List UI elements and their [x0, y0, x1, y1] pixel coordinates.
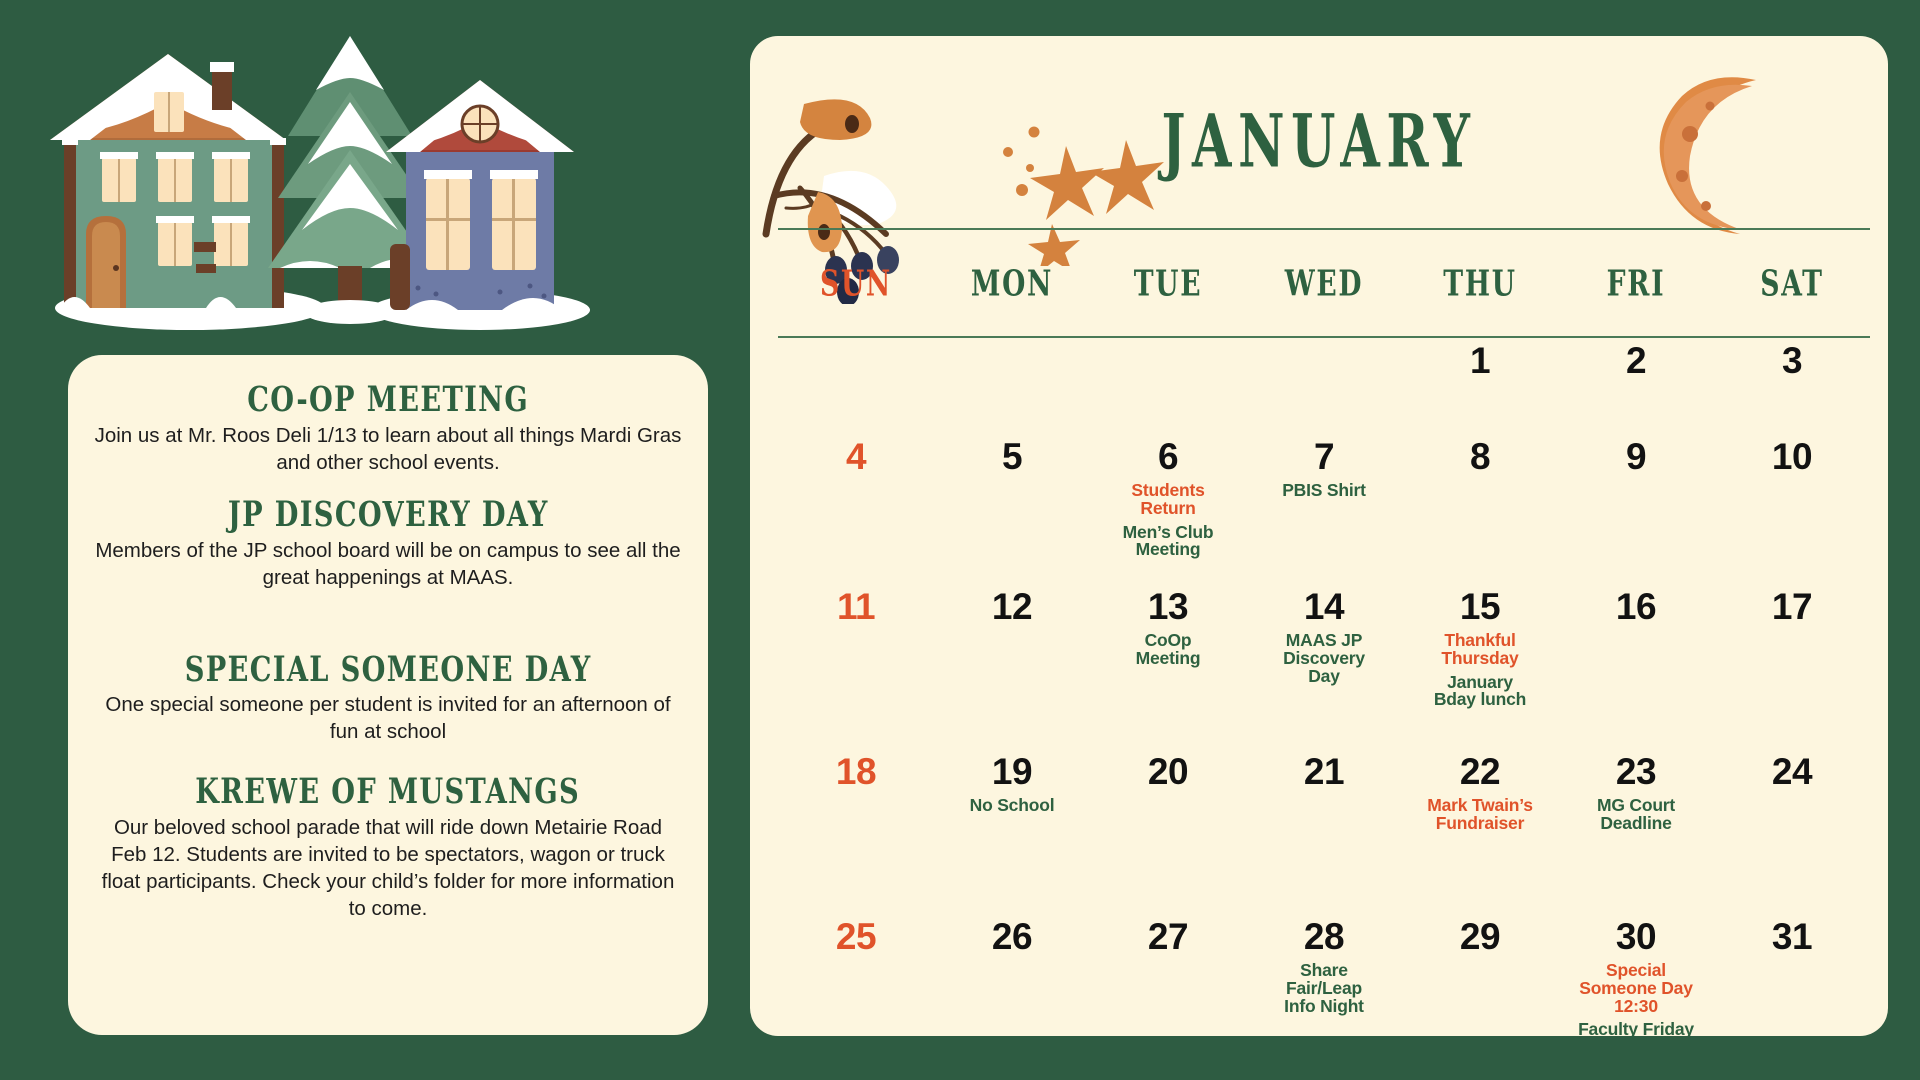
day-cell-6[interactable]: 6Students ReturnMen’s Club Meeting: [1090, 436, 1246, 586]
day-number: 2: [1558, 342, 1714, 381]
day-cell-27[interactable]: 27: [1090, 916, 1246, 1036]
announcement-section: SPECIAL SOMEONE DAY One special someone …: [94, 653, 682, 746]
day-cell-23[interactable]: 23MG Court Deadline: [1558, 751, 1714, 916]
day-events: Thankful ThursdayJanuary Bday lunch: [1402, 632, 1558, 709]
announcement-body: Join us at Mr. Roos Deli 1/13 to learn a…: [94, 422, 682, 476]
day-cell-15[interactable]: 15Thankful ThursdayJanuary Bday lunch: [1402, 586, 1558, 751]
day-number: 13: [1090, 588, 1246, 627]
day-cell-empty[interactable]: [1090, 340, 1246, 436]
day-number: 9: [1558, 438, 1714, 477]
day-cell-31[interactable]: 31: [1714, 916, 1870, 1036]
day-number: 23: [1558, 753, 1714, 792]
weekday-fri: FRI: [1569, 263, 1703, 304]
day-number: 18: [778, 753, 934, 792]
day-number: 12: [934, 588, 1090, 627]
day-cell-10[interactable]: 10: [1714, 436, 1870, 586]
day-number: 11: [778, 588, 934, 627]
day-events: Share Fair/Leap Info Night: [1246, 962, 1402, 1016]
day-cell-22[interactable]: 22Mark Twain’s Fundraiser: [1402, 751, 1558, 916]
event-label[interactable]: PBIS Shirt: [1282, 482, 1366, 500]
announcements-card: CO-OP MEETING Join us at Mr. Roos Deli 1…: [68, 355, 708, 1035]
day-number: 27: [1090, 918, 1246, 957]
day-number: 14: [1246, 588, 1402, 627]
event-label[interactable]: Special Someone Day 12:30: [1579, 962, 1693, 1016]
day-events: PBIS Shirt: [1246, 482, 1402, 500]
day-cell-3[interactable]: 3: [1714, 340, 1870, 436]
event-label[interactable]: MG Court Deadline: [1597, 797, 1675, 833]
day-events: No School: [934, 797, 1090, 815]
announcement-heading: CO-OP MEETING: [247, 381, 529, 420]
calendar-card: JANUARY SUN MON TUE WED THU FRI SAT 1234…: [750, 36, 1888, 1036]
day-number: 26: [934, 918, 1090, 957]
weekday-thu: THU: [1413, 263, 1547, 304]
announcement-heading: KREWE OF MUSTANGS: [196, 773, 581, 812]
day-cell-12[interactable]: 12: [934, 586, 1090, 751]
weekday-sat: SAT: [1725, 263, 1859, 304]
day-cell-26[interactable]: 26: [934, 916, 1090, 1036]
event-label[interactable]: CoOp Meeting: [1136, 632, 1201, 668]
day-cell-2[interactable]: 2: [1558, 340, 1714, 436]
day-cell-4[interactable]: 4: [778, 436, 934, 586]
announcement-heading: SPECIAL SOMEONE DAY: [185, 651, 592, 690]
event-label[interactable]: Faculty Friday 2:10 Dismissal: [1577, 1021, 1696, 1036]
day-cell-13[interactable]: 13CoOp Meeting: [1090, 586, 1246, 751]
day-events: MG Court Deadline: [1558, 797, 1714, 833]
day-cell-7[interactable]: 7PBIS Shirt: [1246, 436, 1402, 586]
event-label[interactable]: Share Fair/Leap Info Night: [1284, 962, 1364, 1016]
day-cell-24[interactable]: 24: [1714, 751, 1870, 916]
day-number: 8: [1402, 438, 1558, 477]
day-number: 3: [1714, 342, 1870, 381]
announcement-section: KREWE OF MUSTANGS Our beloved school par…: [94, 775, 682, 922]
weekday-mon: MON: [945, 263, 1079, 304]
divider-top: [778, 228, 1870, 230]
day-events: Special Someone Day 12:30Faculty Friday …: [1558, 962, 1714, 1036]
day-cell-1[interactable]: 1: [1402, 340, 1558, 436]
day-number: 5: [934, 438, 1090, 477]
day-cell-14[interactable]: 14MAAS JP Discovery Day: [1246, 586, 1402, 751]
event-label[interactable]: No School: [970, 797, 1055, 815]
day-number: 30: [1558, 918, 1714, 957]
announcement-body: Members of the JP school board will be o…: [94, 537, 682, 591]
day-number: 17: [1714, 588, 1870, 627]
blue-house: [386, 80, 574, 310]
weekday-sun: SUN: [789, 263, 923, 304]
day-cell-17[interactable]: 17: [1714, 586, 1870, 751]
announcement-section: JP DISCOVERY DAY Members of the JP schoo…: [94, 498, 682, 591]
day-number: 4: [778, 438, 934, 477]
green-house: [50, 54, 286, 308]
event-label[interactable]: Mark Twain’s Fundraiser: [1427, 797, 1533, 833]
day-number: 10: [1714, 438, 1870, 477]
page-title: JANUARY: [852, 98, 1785, 184]
day-cell-8[interactable]: 8: [1402, 436, 1558, 586]
event-label[interactable]: Students Return: [1131, 482, 1204, 518]
event-label[interactable]: Thankful Thursday: [1441, 632, 1518, 668]
weekday-wed: WED: [1257, 263, 1391, 304]
day-number: 19: [934, 753, 1090, 792]
day-number: 20: [1090, 753, 1246, 792]
snowy-houses-illustration: [40, 18, 680, 373]
day-number: 7: [1246, 438, 1402, 477]
day-cell-25[interactable]: 25: [778, 916, 934, 1036]
day-number: 29: [1402, 918, 1558, 957]
left-column: CO-OP MEETING Join us at Mr. Roos Deli 1…: [0, 0, 720, 1080]
day-cell-9[interactable]: 9: [1558, 436, 1714, 586]
announcement-heading: JP DISCOVERY DAY: [228, 496, 549, 535]
day-cell-29[interactable]: 29: [1402, 916, 1558, 1036]
day-cell-28[interactable]: 28Share Fair/Leap Info Night: [1246, 916, 1402, 1036]
day-cell-empty[interactable]: [778, 340, 934, 436]
day-events: Mark Twain’s Fundraiser: [1402, 797, 1558, 833]
calendar-poster: CO-OP MEETING Join us at Mr. Roos Deli 1…: [0, 0, 1920, 1080]
day-number: 31: [1714, 918, 1870, 957]
day-cell-19[interactable]: 19No School: [934, 751, 1090, 916]
day-number: 25: [778, 918, 934, 957]
day-number: 21: [1246, 753, 1402, 792]
calendar-grid: 123456Students ReturnMen’s Club Meeting7…: [778, 340, 1870, 1028]
day-cell-18[interactable]: 18: [778, 751, 934, 916]
day-cell-16[interactable]: 16: [1558, 586, 1714, 751]
day-number: 28: [1246, 918, 1402, 957]
day-cell-30[interactable]: 30Special Someone Day 12:30Faculty Frida…: [1558, 916, 1714, 1036]
weekday-header-row: SUN MON TUE WED THU FRI SAT: [778, 248, 1870, 320]
day-events: CoOp Meeting: [1090, 632, 1246, 668]
day-number: 15: [1402, 588, 1558, 627]
event-label[interactable]: MAAS JP Discovery Day: [1283, 632, 1365, 686]
weekday-tue: TUE: [1101, 263, 1235, 304]
day-cell-20[interactable]: 20: [1090, 751, 1246, 916]
day-events: Students ReturnMen’s Club Meeting: [1090, 482, 1246, 559]
day-number: 24: [1714, 753, 1870, 792]
day-number: 1: [1402, 342, 1558, 381]
announcement-body: One special someone per student is invit…: [94, 691, 682, 745]
day-number: 6: [1090, 438, 1246, 477]
divider-bottom: [778, 336, 1870, 338]
announcement-section: CO-OP MEETING Join us at Mr. Roos Deli 1…: [94, 383, 682, 476]
day-cell-empty[interactable]: [934, 340, 1090, 436]
day-cell-11[interactable]: 11: [778, 586, 934, 751]
event-label[interactable]: Men’s Club Meeting: [1123, 524, 1214, 560]
announcement-body: Our beloved school parade that will ride…: [94, 814, 682, 922]
day-number: 16: [1558, 588, 1714, 627]
day-events: MAAS JP Discovery Day: [1246, 632, 1402, 686]
day-cell-empty[interactable]: [1246, 340, 1402, 436]
day-number: 22: [1402, 753, 1558, 792]
day-cell-21[interactable]: 21: [1246, 751, 1402, 916]
event-label[interactable]: January Bday lunch: [1434, 674, 1526, 710]
day-cell-5[interactable]: 5: [934, 436, 1090, 586]
